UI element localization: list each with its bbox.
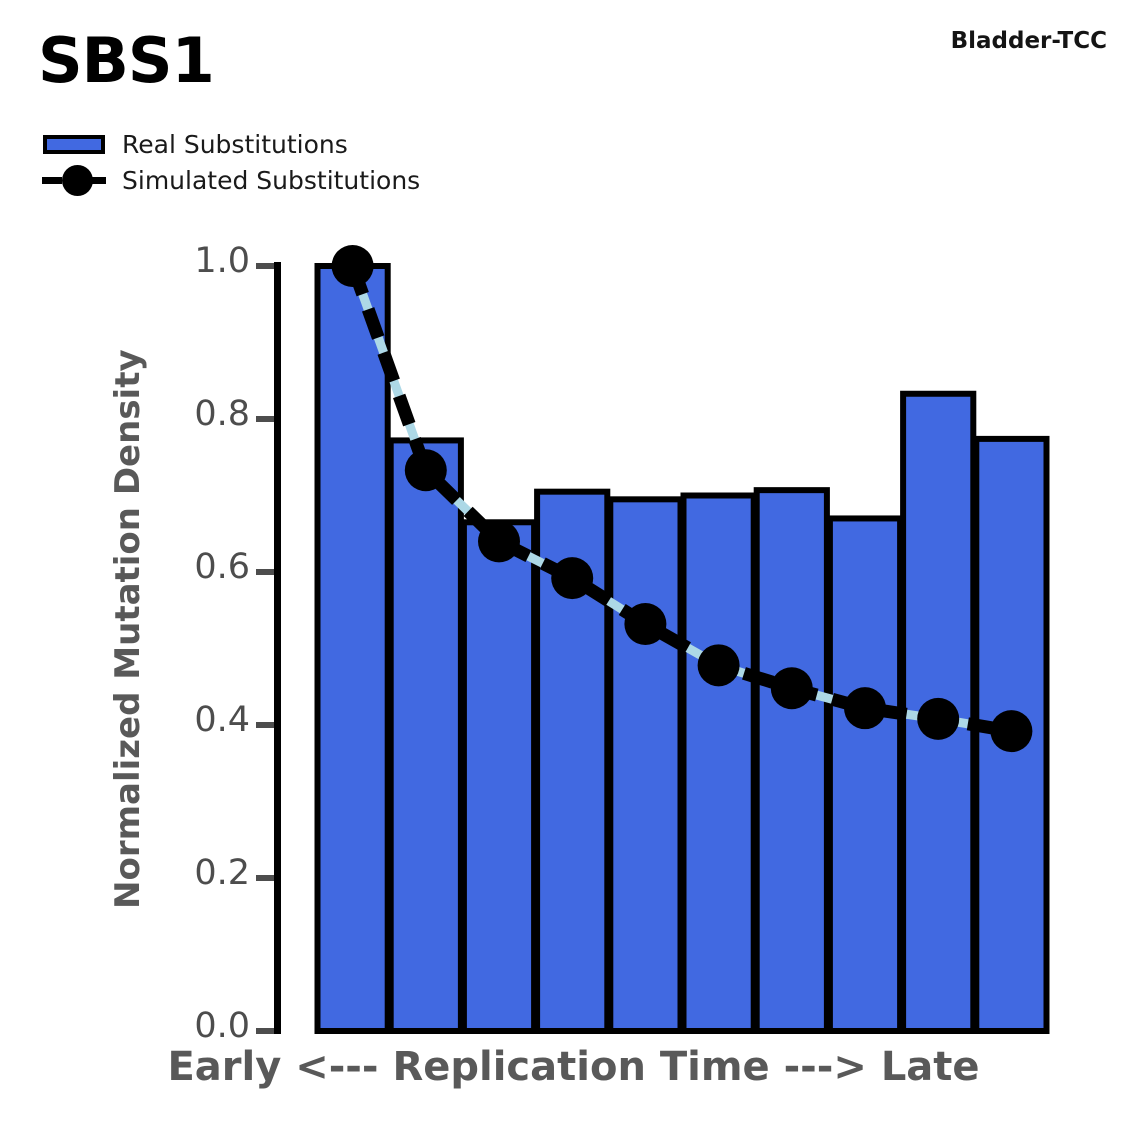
plot-area: Normalized Mutation Density Early <--- R…	[0, 0, 1147, 1125]
data-point-marker[interactable]	[844, 687, 886, 729]
y-tick-label: 0.0	[140, 1006, 250, 1046]
data-point-marker[interactable]	[551, 557, 593, 599]
y-tick-label: 0.8	[140, 394, 250, 434]
bar[interactable]	[830, 518, 900, 1031]
bar[interactable]	[757, 490, 827, 1031]
data-point-marker[interactable]	[990, 710, 1032, 752]
bar[interactable]	[610, 499, 680, 1031]
data-point-marker[interactable]	[698, 644, 740, 686]
y-tick-label: 1.0	[140, 241, 250, 281]
bar[interactable]	[464, 522, 534, 1031]
data-point-marker[interactable]	[478, 520, 520, 562]
bar[interactable]	[391, 440, 461, 1031]
data-point-marker[interactable]	[917, 698, 959, 740]
data-point-marker[interactable]	[771, 667, 813, 709]
y-tick-label: 0.2	[140, 853, 250, 893]
chart-page: SBS1 Bladder-TCC Real Substitutions Simu…	[0, 0, 1147, 1125]
data-point-marker[interactable]	[624, 603, 666, 645]
y-tick-label: 0.4	[140, 700, 250, 740]
bar[interactable]	[318, 266, 388, 1031]
data-point-marker[interactable]	[405, 449, 447, 491]
data-point-marker[interactable]	[332, 245, 374, 287]
y-tick-label: 0.6	[140, 547, 250, 587]
bar[interactable]	[684, 496, 754, 1032]
x-axis-label: Early <--- Replication Time ---> Late	[0, 1044, 1147, 1090]
